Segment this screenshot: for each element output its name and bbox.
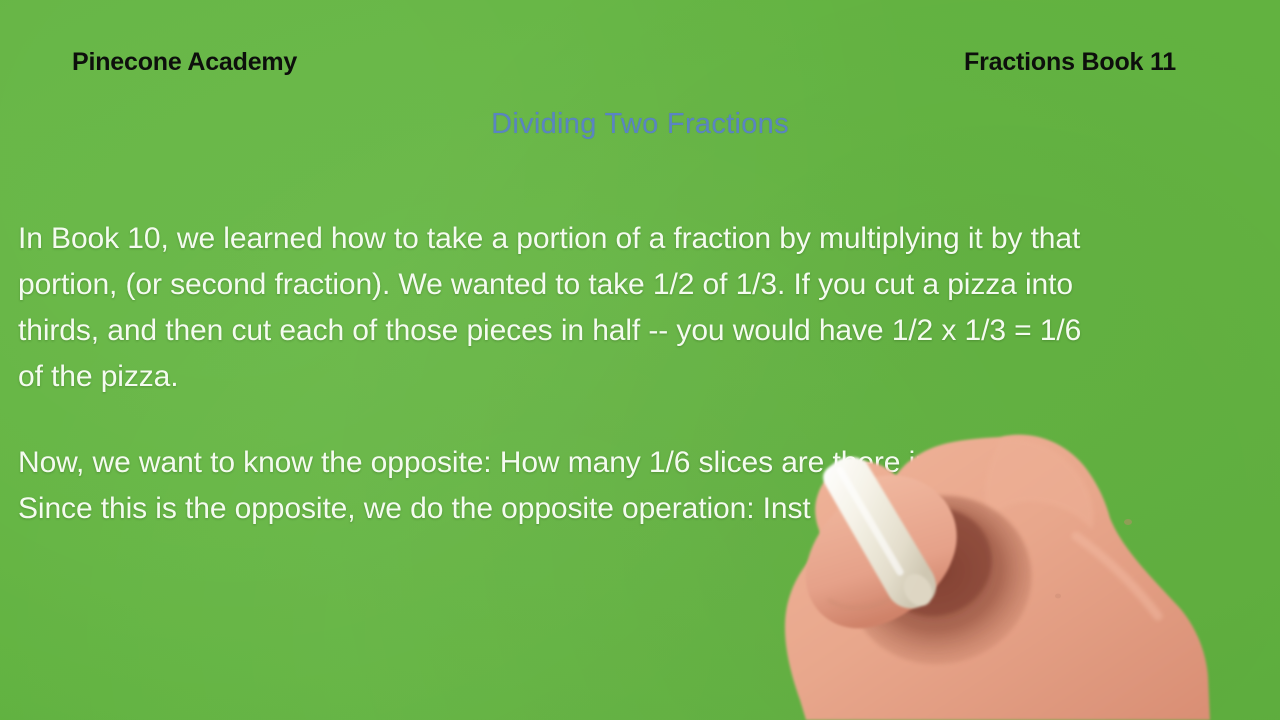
paragraph-1-line-1: In Book 10, we learned how to take a por… — [18, 216, 1262, 262]
paragraph-1-line-2: portion, (or second fraction). We wanted… — [18, 262, 1262, 308]
paragraph-1-line-4: of the pizza. — [18, 354, 1262, 400]
hand-highlight — [1076, 536, 1158, 616]
paragraph-1-line-3: thirds, and then cut each of those piece… — [18, 308, 1262, 354]
chalkboard-surface: Pinecone Academy Fractions Book 11 Divid… — [0, 0, 1280, 720]
slide-header: Pinecone Academy Fractions Book 11 — [0, 48, 1280, 90]
lesson-title: Dividing Two Fractions — [0, 108, 1280, 141]
book-number-label: Fractions Book 11 — [964, 48, 1176, 77]
paragraph-2-line-2: Since this is the opposite, we do the op… — [18, 486, 1262, 532]
paragraph-2: Now, we want to know the opposite: How m… — [18, 440, 1262, 532]
paragraph-2-line-1: Now, we want to know the opposite: How m… — [18, 440, 1262, 486]
paragraph-1: In Book 10, we learned how to take a por… — [18, 216, 1262, 400]
lesson-body: In Book 10, we learned how to take a por… — [18, 216, 1262, 532]
skin-mark — [1055, 594, 1061, 599]
thumb-crease — [828, 596, 894, 608]
school-name-label: Pinecone Academy — [72, 48, 297, 77]
